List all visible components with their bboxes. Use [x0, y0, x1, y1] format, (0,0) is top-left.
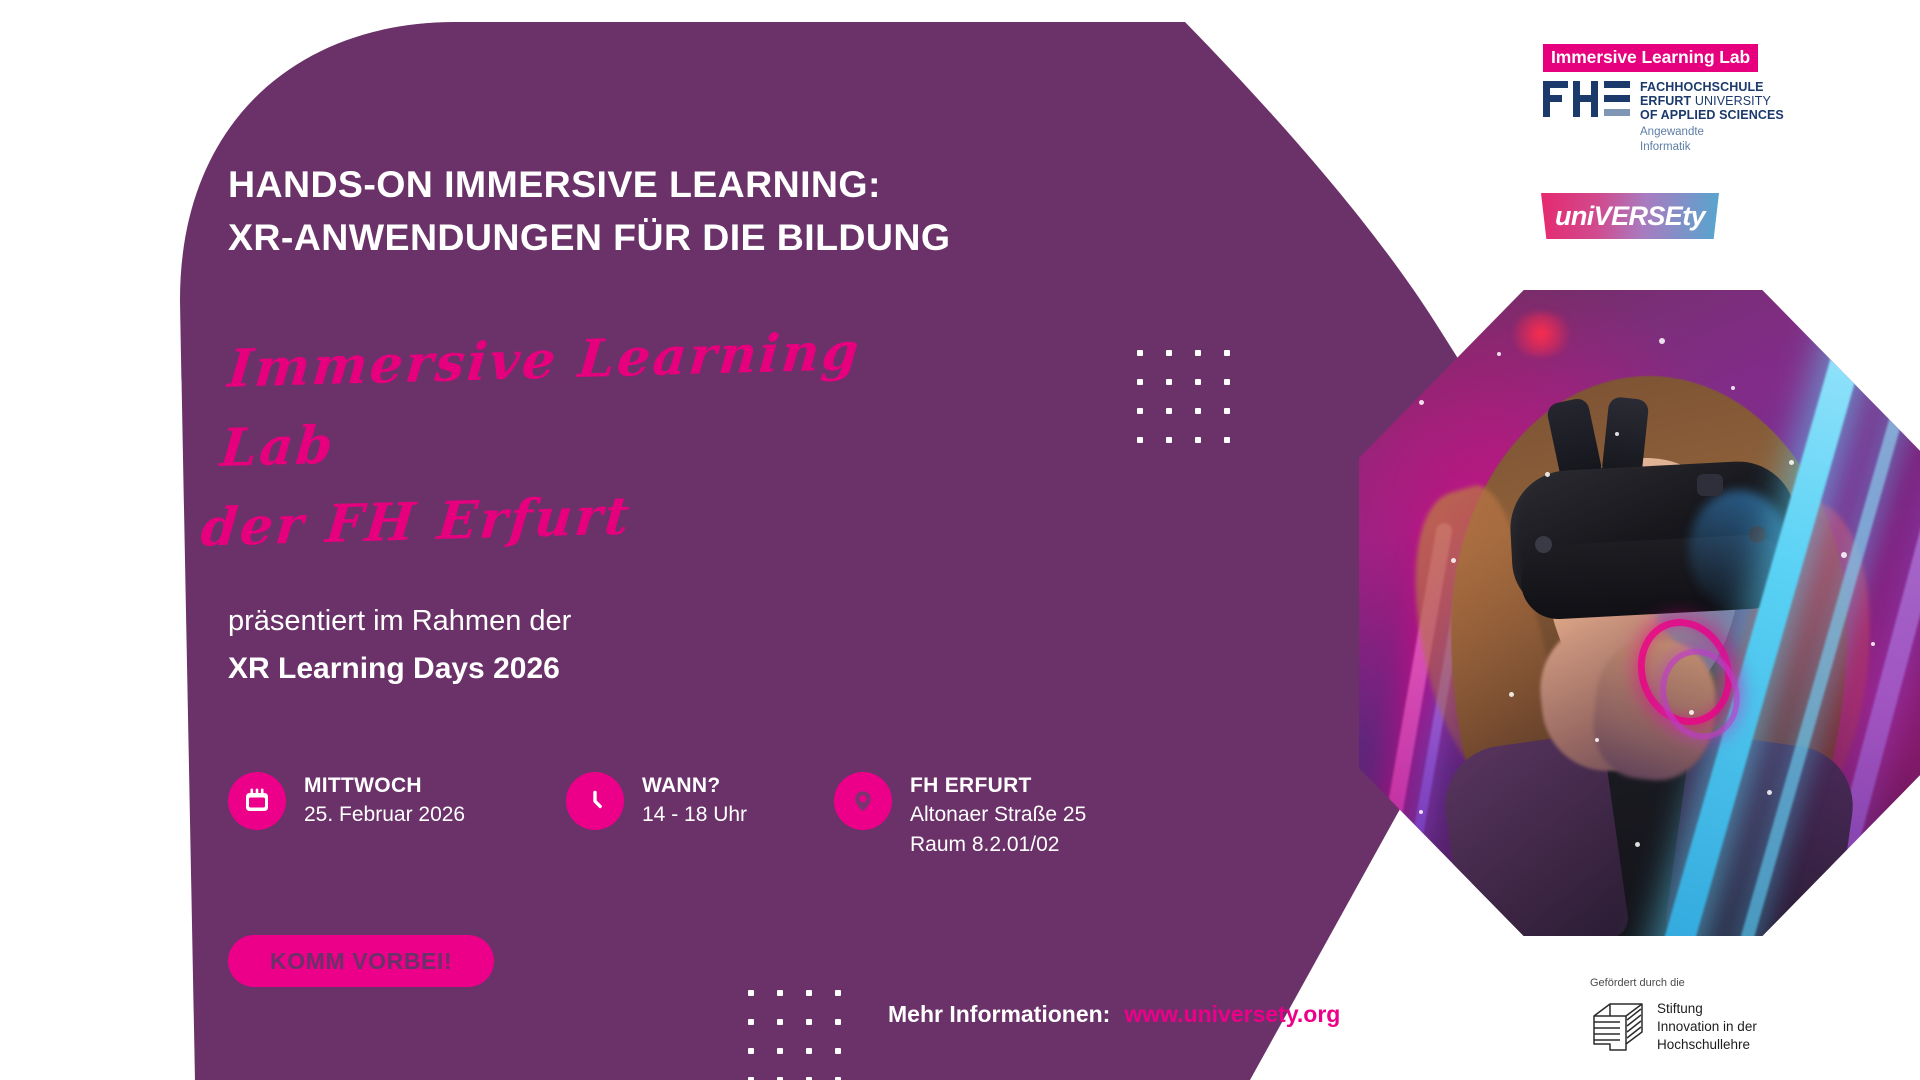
- vr-photo-image: [1359, 290, 1920, 936]
- more-information: Mehr Informationen: www.universety.org: [888, 1001, 1340, 1028]
- headline-line-1: Hands-On Immersive Learning:: [228, 163, 881, 205]
- fhe-wordmark: FACHHOCHSCHULE ERFURT UNIVERSITY OF APPL…: [1640, 78, 1784, 155]
- content-column: Hands-On Immersive Learning: XR-Anwendun…: [228, 0, 1408, 1080]
- detail-time-text: WANN? 14 - 18 Uhr: [642, 770, 747, 830]
- script-title: Immersive Learning Lab der FH Erfurt: [196, 309, 978, 568]
- dot: [1166, 379, 1172, 385]
- dot: [1137, 379, 1143, 385]
- detail-time: WANN? 14 - 18 Uhr: [566, 770, 834, 830]
- dot: [1166, 350, 1172, 356]
- sponsor-name: Stiftung Innovation in der Hochschullehr…: [1657, 1000, 1757, 1054]
- dot-grid-bottom: [748, 990, 841, 1080]
- fhe-logo: FACHHOCHSCHULE ERFURT UNIVERSITY OF APPL…: [1543, 78, 1784, 155]
- universety-part-3: ty: [1682, 201, 1705, 231]
- fhe-mark-icon: [1543, 78, 1631, 120]
- dot-grid-top: [1137, 350, 1230, 443]
- dot: [806, 1048, 812, 1054]
- headline-line-2: XR-Anwendungen für die Bildung: [228, 211, 950, 264]
- sponsor-line-1: Stiftung: [1657, 1000, 1757, 1018]
- sponsor-block: Gefördert durch die: [1590, 977, 1757, 1056]
- detail-time-line-1: 14 - 18 Uhr: [642, 800, 747, 830]
- dot: [1137, 408, 1143, 414]
- detail-date-text: MITTWOCH 25. Februar 2026: [304, 770, 465, 830]
- presented-lead: präsentiert im Rahmen der: [228, 605, 571, 637]
- sponsor-line-3: Hochschullehre: [1657, 1036, 1757, 1054]
- universety-part-1: uni: [1555, 201, 1594, 231]
- detail-time-title: WANN?: [642, 772, 747, 800]
- sponsor-line-2: Innovation in der: [1657, 1018, 1757, 1036]
- fhe-subtitle: Angewandte Informatik: [1640, 125, 1784, 155]
- dot: [806, 1019, 812, 1025]
- dot: [1166, 408, 1172, 414]
- dot: [835, 1019, 841, 1025]
- dot: [1224, 437, 1230, 443]
- detail-location-line-2: Raum 8.2.01/02: [910, 830, 1086, 860]
- more-information-label: Mehr Informationen:: [888, 1001, 1110, 1028]
- map-pin-icon: [834, 772, 892, 830]
- detail-date-line-1: 25. Februar 2026: [304, 800, 465, 830]
- clock-icon: [566, 772, 624, 830]
- dot: [748, 1019, 754, 1025]
- script-title-line-1: Immersive Learning Lab: [217, 309, 978, 488]
- fhe-sub-line-1: Angewandte: [1640, 125, 1784, 140]
- universety-wordmark: uniVERSEty: [1555, 201, 1705, 232]
- detail-location-line-1: Altonaer Straße 25: [910, 800, 1086, 830]
- poster-root: Hands-On Immersive Learning: XR-Anwendun…: [0, 0, 1920, 1080]
- dot: [1224, 379, 1230, 385]
- dot: [1224, 408, 1230, 414]
- page-title: Hands-On Immersive Learning: XR-Anwendun…: [228, 158, 950, 265]
- fhe-sub-line-2: Informatik: [1640, 140, 1784, 155]
- calendar-icon: [228, 772, 286, 830]
- dust-particles: [1359, 290, 1920, 936]
- vr-photo: [1359, 290, 1920, 936]
- detail-date-title: MITTWOCH: [304, 772, 465, 800]
- dot: [748, 1048, 754, 1054]
- universety-logo: uniVERSEty: [1541, 193, 1719, 239]
- dot: [835, 1048, 841, 1054]
- stiftung-book-icon: [1590, 998, 1646, 1056]
- presented-block: präsentiert im Rahmen der XR Learning Da…: [228, 600, 571, 691]
- dot: [777, 990, 783, 996]
- dot: [1195, 379, 1201, 385]
- detail-location-title: FH ERFURT: [910, 772, 1086, 800]
- dot: [1195, 437, 1201, 443]
- dot: [1137, 350, 1143, 356]
- fhe-line-2-rest: UNIVERSITY: [1695, 94, 1771, 108]
- dot: [1137, 437, 1143, 443]
- dot: [806, 990, 812, 996]
- fhe-line-2: ERFURT UNIVERSITY: [1640, 94, 1784, 108]
- website-link[interactable]: www.universety.org: [1124, 1001, 1340, 1028]
- immersive-learning-lab-logo: Immersive Learning Lab FACHHOCHSCHULE ER…: [1543, 44, 1784, 155]
- fhe-line-1: FACHHOCHSCHULE: [1640, 80, 1784, 94]
- dot: [777, 1048, 783, 1054]
- detail-location-text: FH ERFURT Altonaer Straße 25 Raum 8.2.01…: [910, 770, 1086, 861]
- sponsor-logo: Stiftung Innovation in der Hochschullehr…: [1590, 998, 1757, 1056]
- dot: [1166, 437, 1172, 443]
- sponsor-lead: Gefördert durch die: [1590, 977, 1757, 989]
- detail-location: FH ERFURT Altonaer Straße 25 Raum 8.2.01…: [834, 770, 1086, 861]
- fhe-line-3: OF APPLIED SCIENCES: [1640, 108, 1784, 122]
- dot: [1224, 350, 1230, 356]
- dot: [748, 990, 754, 996]
- dot: [777, 1019, 783, 1025]
- komm-vorbei-button[interactable]: Komm vorbei!: [228, 935, 494, 987]
- dot: [835, 990, 841, 996]
- detail-date: MITTWOCH 25. Februar 2026: [228, 770, 566, 830]
- immersive-learning-lab-label: Immersive Learning Lab: [1543, 44, 1758, 72]
- event-details-row: MITTWOCH 25. Februar 2026 WANN? 14 - 18 …: [228, 770, 1086, 861]
- dot: [1195, 350, 1201, 356]
- universety-part-2: VERSE: [1594, 201, 1683, 231]
- dot: [1195, 408, 1201, 414]
- fhe-line-2-bold: ERFURT: [1640, 94, 1691, 108]
- presented-event: XR Learning Days 2026: [228, 647, 571, 691]
